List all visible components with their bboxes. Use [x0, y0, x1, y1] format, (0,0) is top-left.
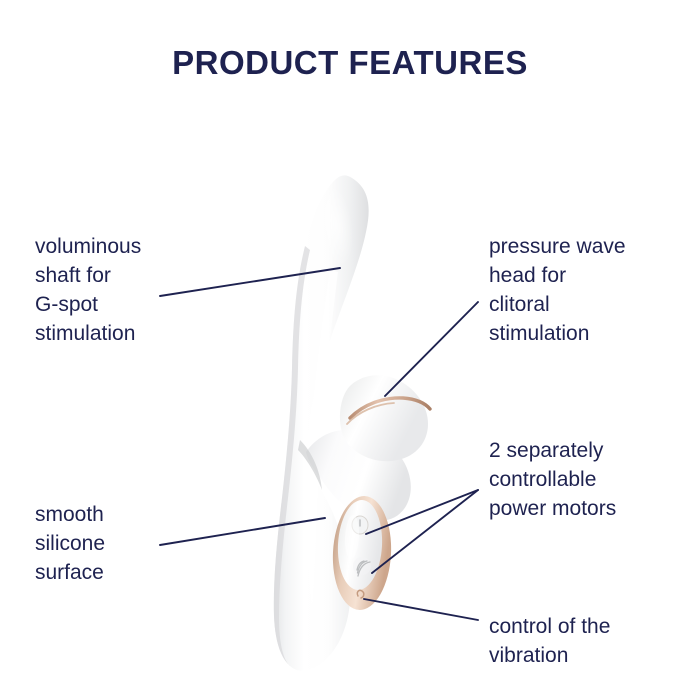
callout-power-motors: 2 separately controllable power motors: [489, 436, 689, 523]
callout-smooth-silicone: smooth silicone surface: [35, 500, 220, 587]
product-features-page: PRODUCT FEATURES: [0, 0, 700, 700]
callout-vibration-control: control of the vibration: [489, 612, 689, 670]
product-illustration: [0, 0, 700, 700]
callout-pressure-wave-head: pressure wave head for clitoral stimulat…: [489, 232, 689, 348]
callout-voluminous-shaft: voluminous shaft for G-spot stimulation: [35, 232, 220, 348]
